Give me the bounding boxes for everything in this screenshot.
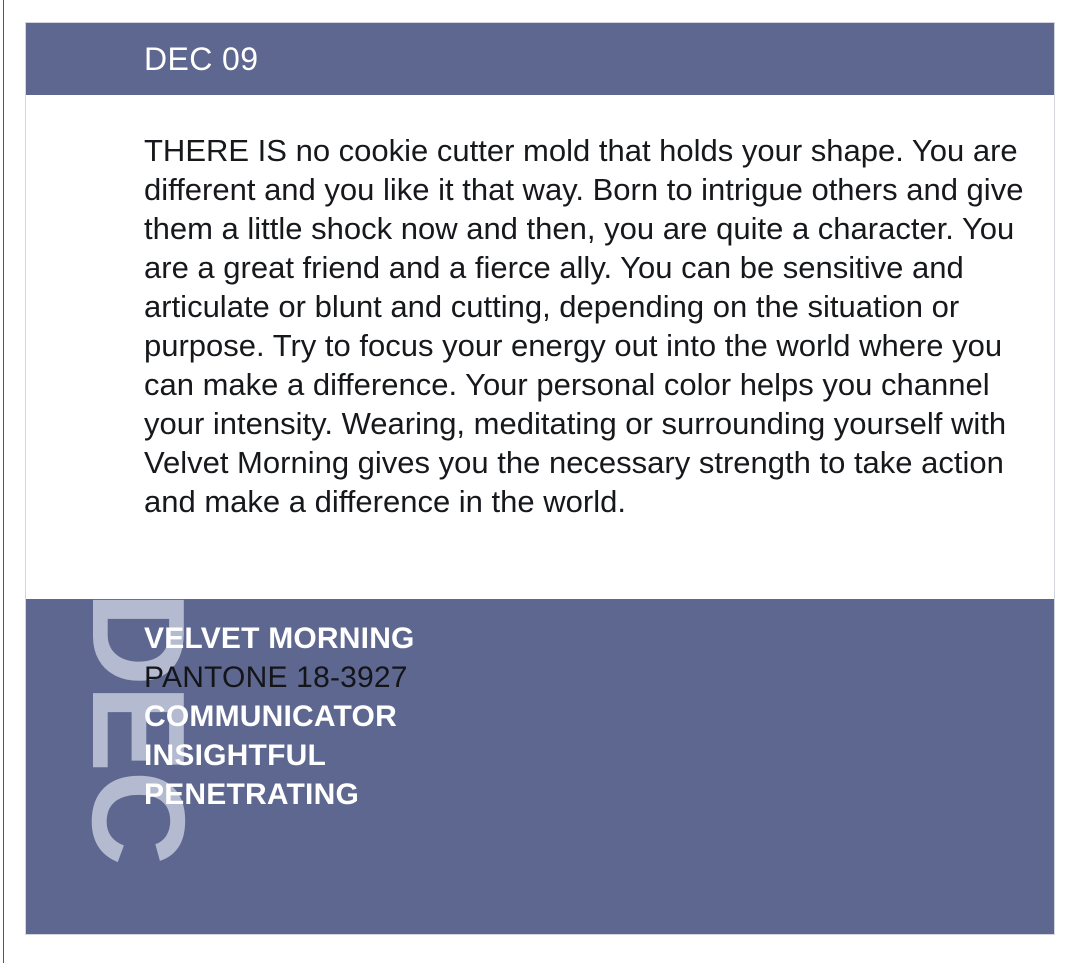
trait-label-2: INSIGHTFUL [144,736,1034,775]
card-description-text: THERE IS no cookie cutter mold that hold… [144,131,1024,521]
trait-label-1: COMMUNICATOR [144,697,1034,736]
card-date-label: DEC 09 [144,43,258,75]
card-body: THERE IS no cookie cutter mold that hold… [26,95,1054,599]
color-name-label: VELVET MORNING [144,619,1034,658]
pantone-code-label: PANTONE 18-3927 [144,658,1034,697]
color-of-the-day-card: DEC 09 THERE IS no cookie cutter mold th… [25,22,1055,935]
color-info-block: VELVET MORNING PANTONE 18-3927 COMMUNICA… [144,619,1034,814]
trait-label-3: PENETRATING [144,775,1034,814]
card-footer-band: DEC VELVET MORNING PANTONE 18-3927 COMMU… [26,599,1054,934]
page-left-edge-rule [3,0,4,963]
card-header-band: DEC 09 [26,23,1054,95]
